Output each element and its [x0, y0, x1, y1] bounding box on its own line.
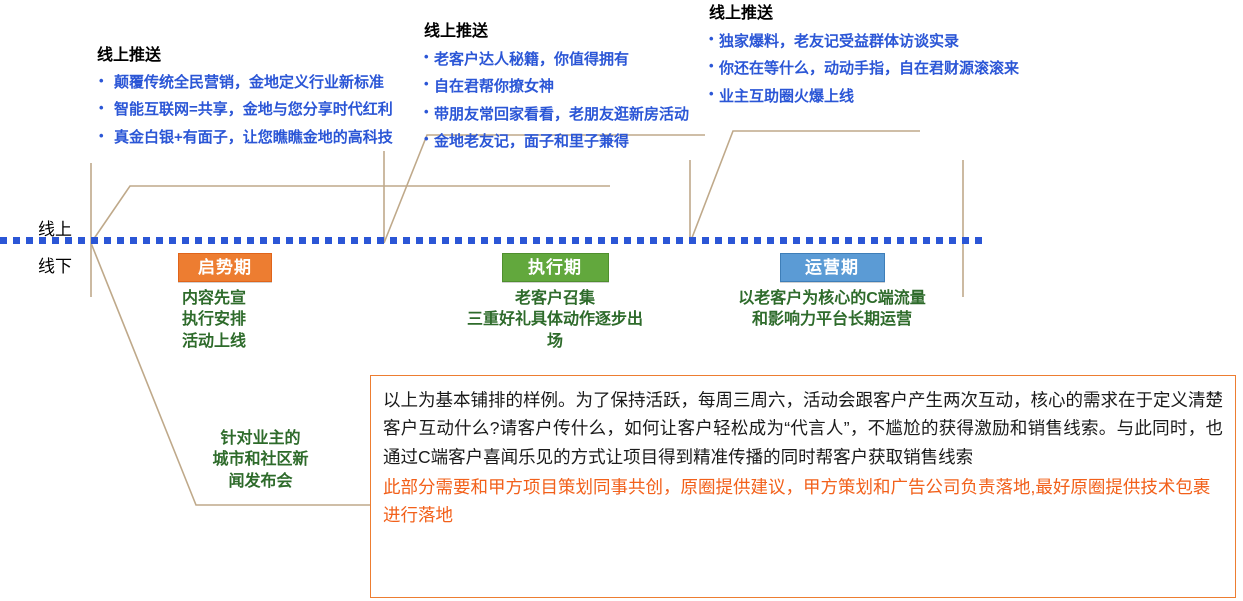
note-1-item: 颠覆传统全民营销，金地定义行业新标准 — [97, 73, 393, 92]
phase-3-desc-line: 和影响力平台长期运营 — [697, 309, 967, 330]
connector-left-up — [91, 186, 610, 243]
phase-2-desc: 老客户召集 三重好礼具体动作逐步出 场 — [420, 288, 690, 352]
note-1-list: 颠覆传统全民营销，金地定义行业新标准 智能互联网=共享，金地与您分享时代红利 真… — [97, 73, 393, 147]
phase-3-chip[interactable]: 运营期 — [780, 253, 885, 282]
phase-1: 启势期 内容先宣 执行安排 活动上线 — [178, 253, 272, 352]
phase-1-chip[interactable]: 启势期 — [178, 253, 272, 282]
note-block-1: 线上推送 颠覆传统全民营销，金地定义行业新标准 智能互联网=共享，金地与您分享时… — [97, 46, 393, 147]
phase-3-desc-line: 以老客户为核心的C端流量 — [697, 288, 967, 309]
note-3-list: 独家爆料，老友记受益群体访谈实录 你还在等什么，动动手指，自在君财源滚滚来 业主… — [709, 32, 1019, 106]
summary-black-text: 以上为基本铺排的样例。为了保持活跃，每周三周六，活动会跟客户产生两次互动，核心的… — [383, 386, 1223, 471]
note-2-title: 线上推送 — [424, 22, 689, 41]
phase-1-desc: 内容先宣 执行安排 活动上线 — [178, 288, 272, 352]
phase-2-desc-line: 场 — [420, 331, 690, 352]
offline-note-line: 针对业主的 — [163, 428, 358, 449]
offline-note-line: 城市和社区新 — [163, 449, 358, 470]
note-1-title: 线上推送 — [97, 46, 393, 65]
timeline-axis — [0, 237, 986, 244]
phase-1-desc-line: 活动上线 — [182, 331, 272, 352]
note-3-item: 你还在等什么，动动手指，自在君财源滚滚来 — [709, 59, 1019, 78]
summary-box: 以上为基本铺排的样例。为了保持活跃，每周三周六，活动会跟客户产生两次互动，核心的… — [370, 375, 1236, 598]
note-2-list: 老客户达人秘籍，你值得拥有 自在君帮你撩女神 带朋友常回家看看，老朋友逛新房活动… — [424, 50, 689, 151]
offline-note: 针对业主的 城市和社区新 闻发布会 — [163, 428, 358, 492]
phase-1-desc-line: 执行安排 — [182, 309, 272, 330]
note-block-3: 线上推送 独家爆料，老友记受益群体访谈实录 你还在等什么，动动手指，自在君财源滚… — [709, 4, 1019, 106]
phase-2-desc-line: 老客户召集 — [420, 288, 690, 309]
note-1-item: 真金白银+有面子，让您瞧瞧金地的高科技 — [97, 128, 393, 147]
note-1-item: 智能互联网=共享，金地与您分享时代红利 — [97, 100, 393, 119]
offline-note-line: 闻发布会 — [163, 471, 358, 492]
note-2-item: 金地老友记，面子和里子兼得 — [424, 132, 689, 151]
phase-3-desc: 以老客户为核心的C端流量 和影响力平台长期运营 — [697, 288, 967, 331]
connector-mid-up — [384, 135, 705, 243]
note-2-item: 自在君帮你撩女神 — [424, 77, 689, 96]
note-2-item: 带朋友常回家看看，老朋友逛新房活动 — [424, 105, 689, 124]
phase-3: 运营期 以老客户为核心的C端流量 和影响力平台长期运营 — [697, 253, 967, 331]
axis-label-offline: 线下 — [38, 252, 72, 277]
connector-right-up — [690, 131, 920, 243]
note-3-item: 独家爆料，老友记受益群体访谈实录 — [709, 32, 1019, 51]
summary-orange-text: 此部分需要和甲方项目策划同事共创，原圈提供建议，甲方策划和广告公司负责落地,最好… — [383, 473, 1223, 530]
phase-2: 执行期 老客户召集 三重好礼具体动作逐步出 场 — [420, 253, 690, 352]
phase-2-desc-line: 三重好礼具体动作逐步出 — [420, 309, 690, 330]
note-3-title: 线上推送 — [709, 4, 1019, 23]
note-2-item: 老客户达人秘籍，你值得拥有 — [424, 50, 689, 69]
note-block-2: 线上推送 老客户达人秘籍，你值得拥有 自在君帮你撩女神 带朋友常回家看看，老朋友… — [424, 22, 689, 151]
phase-1-desc-line: 内容先宣 — [182, 288, 272, 309]
note-3-item: 业主互助圈火爆上线 — [709, 87, 1019, 106]
phase-2-chip[interactable]: 执行期 — [502, 253, 609, 282]
